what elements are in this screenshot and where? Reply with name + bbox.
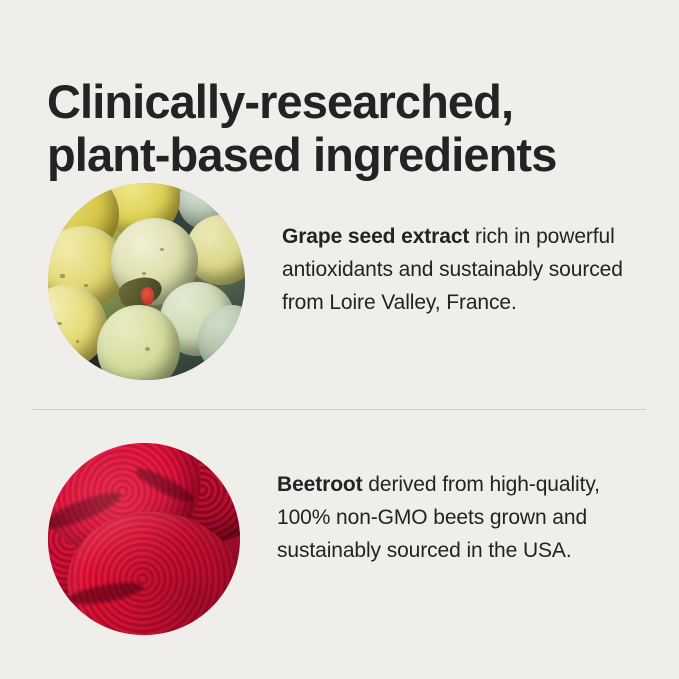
grape-blemish: [141, 287, 155, 305]
grape-photo: [48, 183, 245, 380]
beetroot-image: [48, 443, 240, 635]
grape-seed-extract-name: Grape seed extract: [282, 225, 469, 248]
ingredient-row-beetroot: Beetroot derived from high-quality, 100%…: [0, 443, 679, 635]
beetroot-name: Beetroot: [277, 473, 363, 496]
page-title: Clinically-researched, plant-based ingre…: [47, 75, 647, 181]
grape-seed-extract-description: Grape seed extract rich in powerful anti…: [282, 220, 634, 319]
ingredient-row-grape-seed-extract: Grape seed extract rich in powerful anti…: [0, 183, 679, 380]
page-title-line-2: plant-based ingredients: [47, 128, 647, 181]
beetroot-description: Beetroot derived from high-quality, 100%…: [277, 468, 637, 567]
page-title-line-1: Clinically-researched,: [47, 75, 647, 128]
ingredients-panel: Clinically-researched, plant-based ingre…: [0, 0, 679, 679]
section-divider: [33, 409, 646, 410]
beet-shading: [48, 443, 240, 635]
beetroot-photo: [48, 443, 240, 635]
grape-seed-extract-image: [48, 183, 245, 380]
